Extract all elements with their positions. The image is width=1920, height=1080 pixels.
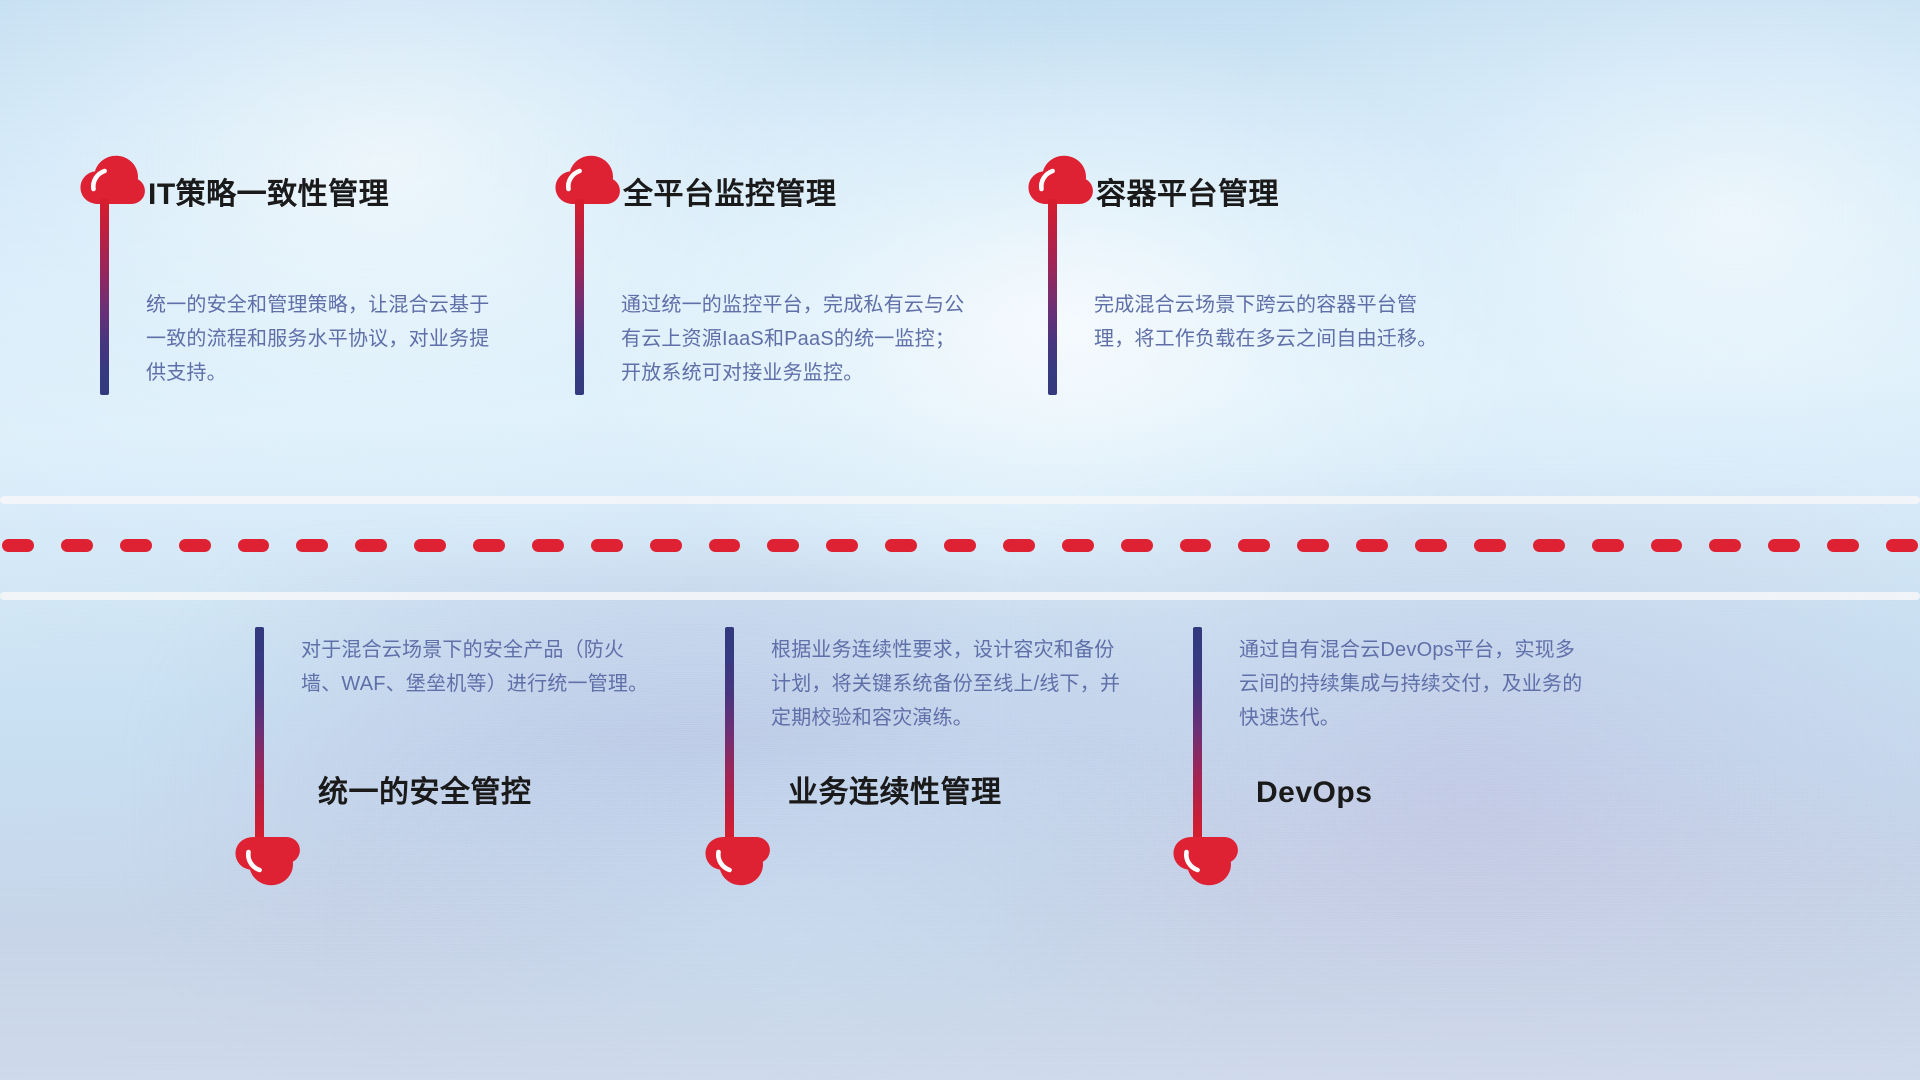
cloud-icon: [703, 836, 771, 886]
card-body: 根据业务连续性要求，设计容灾和备份计划，将关键系统备份至线上/线下，并定期校验和…: [771, 633, 1121, 735]
card-body: 对于混合云场景下的安全产品（防火墙、WAF、堡垒机等）进行统一管理。: [301, 633, 651, 701]
card-title: 统一的安全管控: [318, 775, 532, 811]
connector-stem: [100, 199, 109, 395]
card-title: 容器平台管理: [1096, 177, 1279, 213]
connector-stem: [1193, 627, 1202, 840]
card-body: 通过统一的监控平台，完成私有云与公有云上资源IaaS和PaaS的统一监控；开放系…: [621, 288, 971, 390]
connector-stem: [575, 199, 584, 395]
infographic-board: IT策略一致性管理 统一的安全和管理策略，让混合云基于一致的流程和服务水平协议，…: [0, 0, 1920, 1080]
card-body: 通过自有混合云DevOps平台，实现多云间的持续集成与持续交付，及业务的快速迭代…: [1239, 633, 1589, 735]
cloud-icon: [1026, 155, 1094, 205]
cloud-icon: [553, 155, 621, 205]
card-title: DevOps: [1256, 775, 1372, 811]
cloud-icon: [78, 155, 146, 205]
connector-stem: [1048, 199, 1057, 395]
connector-stem: [255, 627, 264, 840]
cloud-icon: [233, 836, 301, 886]
cloud-icon: [1171, 836, 1239, 886]
card-title: 业务连续性管理: [788, 775, 1002, 811]
connector-stem: [725, 627, 734, 840]
card-body: 统一的安全和管理策略，让混合云基于一致的流程和服务水平协议，对业务提供支持。: [146, 288, 496, 390]
card-body: 完成混合云场景下跨云的容器平台管理，将工作负载在多云之间自由迁移。: [1094, 288, 1444, 356]
card-title: 全平台监控管理: [623, 177, 837, 213]
card-title: IT策略一致性管理: [148, 177, 389, 213]
